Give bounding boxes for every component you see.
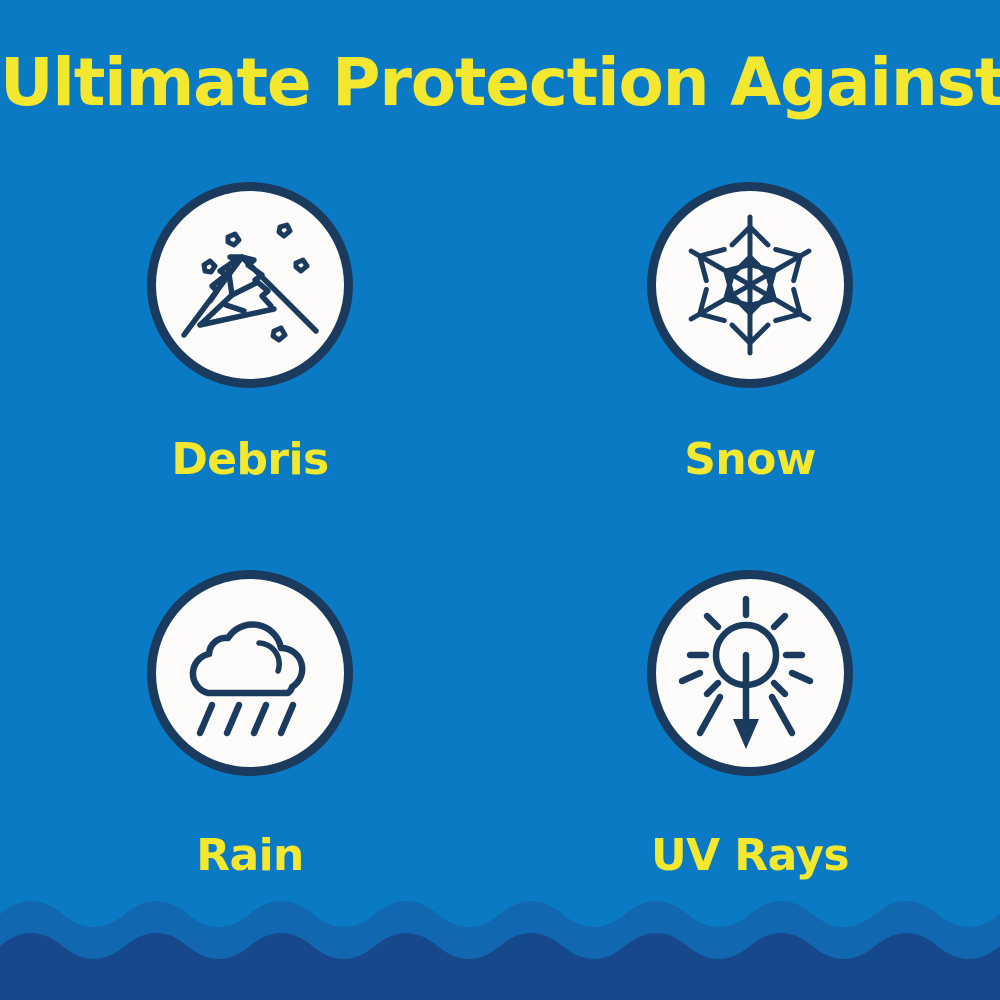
feature-label-uv-rays: UV Rays bbox=[651, 830, 849, 881]
wave-border bbox=[0, 880, 1000, 1000]
infographic-root: Ultimate Protection Against bbox=[0, 0, 1000, 1000]
feature-label-rain: Rain bbox=[196, 830, 304, 881]
feature-grid: Debris bbox=[0, 160, 1000, 930]
feature-debris: Debris bbox=[0, 160, 500, 545]
snowflake-icon bbox=[670, 205, 830, 365]
debris-icon-circle bbox=[147, 182, 353, 388]
snow-icon-circle bbox=[647, 182, 853, 388]
uv-down-arrow bbox=[733, 655, 759, 749]
uv-icon-circle bbox=[647, 570, 853, 776]
page-title-container: Ultimate Protection Against bbox=[0, 48, 1000, 117]
wave-border-svg bbox=[0, 880, 1000, 1000]
feature-rain: Rain bbox=[0, 545, 500, 930]
rain-icon-circle bbox=[147, 570, 353, 776]
sun-uv-rays-icon bbox=[670, 593, 830, 753]
rain-cloud-icon bbox=[170, 593, 330, 753]
feature-label-debris: Debris bbox=[171, 434, 328, 485]
page-title: Ultimate Protection Against bbox=[0, 48, 1000, 117]
debris-branches-icon bbox=[170, 205, 330, 365]
feature-uv-rays: UV Rays bbox=[500, 545, 1000, 930]
feature-snow: Snow bbox=[500, 160, 1000, 545]
rain-streaks bbox=[200, 705, 293, 733]
feature-label-snow: Snow bbox=[684, 434, 816, 485]
